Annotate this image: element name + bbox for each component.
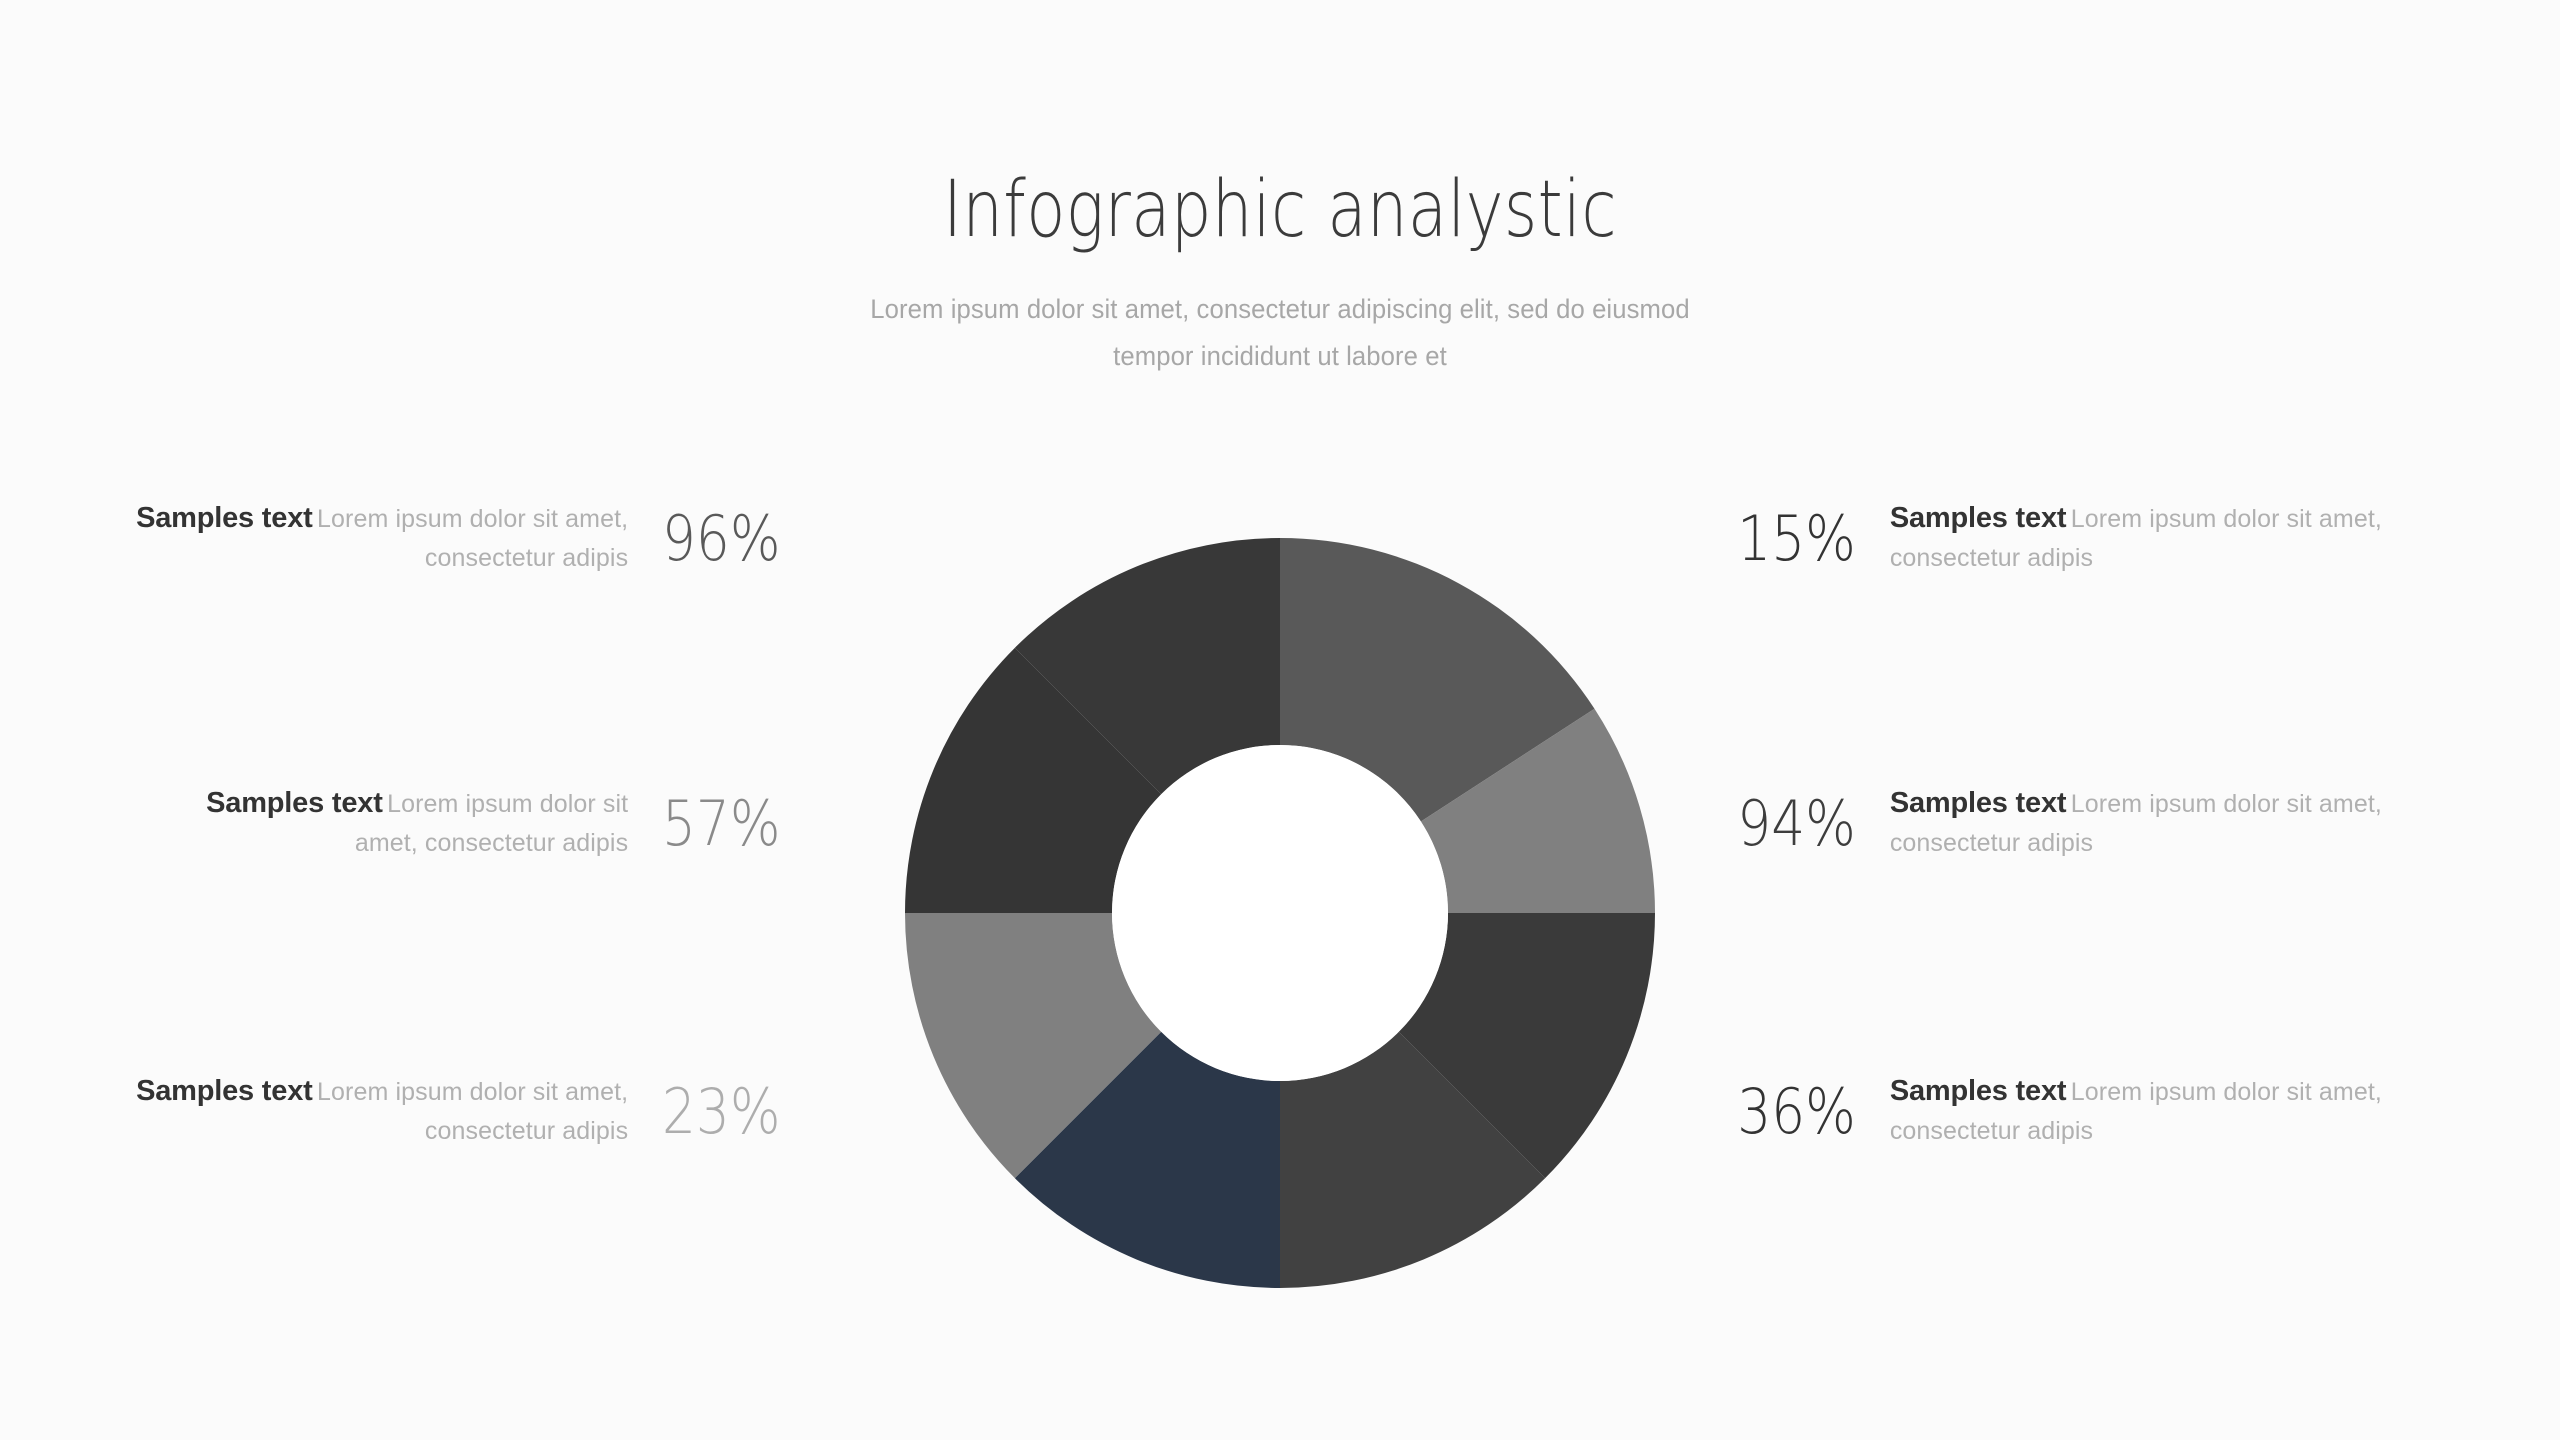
- stat-title: Samples text: [136, 502, 313, 534]
- subtitle-line-2: tempor incididunt ut labore et: [1113, 341, 1447, 371]
- stat-title: Samples text: [1890, 1075, 2067, 1107]
- page-title: Infographic analystic: [230, 170, 2329, 252]
- stat-description: Lorem ipsum dolor sit amet, consectetur …: [317, 1078, 628, 1145]
- stat-item-left-3[interactable]: Samples text Lorem ipsum dolor sit amet,…: [100, 1073, 800, 1151]
- stat-desc-line-2: consectetur adipis: [1890, 544, 2093, 572]
- stat-text-block: Samples text Lorem ipsum dolor sit amet,…: [1890, 1073, 2382, 1151]
- stat-text-block: Samples text Lorem ipsum dolor sit amet,…: [136, 1073, 628, 1151]
- stat-desc-line-2: consectetur adipis: [425, 544, 628, 572]
- stat-desc-line-1: Lorem ipsum dolor sit amet,: [2071, 505, 2382, 533]
- stat-text-block: Samples text Lorem ipsum dolor sit amet,…: [1890, 500, 2382, 578]
- stat-desc-line-2: amet, consectetur adipis: [355, 829, 628, 857]
- subtitle-line-1: Lorem ipsum dolor sit amet, consectetur …: [870, 294, 1689, 324]
- stat-title: Samples text: [1890, 502, 2067, 534]
- donut-center-hole: [1112, 745, 1448, 1081]
- stat-text-block: Samples text Lorem ipsum dolor sit amet,…: [1890, 785, 2382, 863]
- stat-title: Samples text: [1890, 787, 2067, 819]
- stat-title: Samples text: [206, 787, 383, 819]
- stat-desc-line-1: Lorem ipsum dolor sit amet,: [317, 505, 628, 533]
- stat-value: 94%: [1737, 793, 1856, 855]
- stat-item-left-2[interactable]: Samples text Lorem ipsum dolor sit amet,…: [100, 785, 800, 863]
- stat-item-right-2[interactable]: 94% Samples text Lorem ipsum dolor sit a…: [1718, 785, 2518, 863]
- stat-title: Samples text: [136, 1075, 313, 1107]
- stat-description: Lorem ipsum dolor sit amet, consectetur …: [317, 505, 628, 572]
- donut-chart-svg: [905, 538, 1655, 1288]
- stat-value: 96%: [662, 508, 781, 570]
- stat-value: 15%: [1737, 508, 1856, 570]
- stat-value: 23%: [662, 1081, 781, 1143]
- stat-desc-line-2: consectetur adipis: [1890, 829, 2093, 857]
- header: Infographic analystic Lorem ipsum dolor …: [0, 170, 2560, 380]
- stat-item-right-1[interactable]: 15% Samples text Lorem ipsum dolor sit a…: [1718, 500, 2478, 578]
- stat-desc-line-1: Lorem ipsum dolor sit: [387, 790, 628, 818]
- stat-description: Lorem ipsum dolor sit amet, consectetur …: [355, 790, 628, 857]
- page-subtitle: Lorem ipsum dolor sit amet, consectetur …: [743, 286, 1817, 381]
- stat-text-block: Samples text Lorem ipsum dolor sit amet,…: [206, 785, 628, 863]
- stat-value: 36%: [1737, 1081, 1856, 1143]
- donut-chart: [905, 538, 1655, 1288]
- stat-text-block: Samples text Lorem ipsum dolor sit amet,…: [136, 500, 628, 578]
- stat-desc-line-2: consectetur adipis: [425, 1117, 628, 1145]
- stat-item-left-1[interactable]: Samples text Lorem ipsum dolor sit amet,…: [100, 500, 800, 578]
- stat-desc-line-1: Lorem ipsum dolor sit amet,: [2071, 1078, 2382, 1106]
- stat-desc-line-2: consectetur adipis: [1890, 1117, 2093, 1145]
- stat-desc-line-1: Lorem ipsum dolor sit amet,: [2071, 790, 2382, 818]
- stat-value: 57%: [662, 793, 781, 855]
- stat-desc-line-1: Lorem ipsum dolor sit amet,: [317, 1078, 628, 1106]
- stat-item-right-3[interactable]: 36% Samples text Lorem ipsum dolor sit a…: [1718, 1073, 2478, 1151]
